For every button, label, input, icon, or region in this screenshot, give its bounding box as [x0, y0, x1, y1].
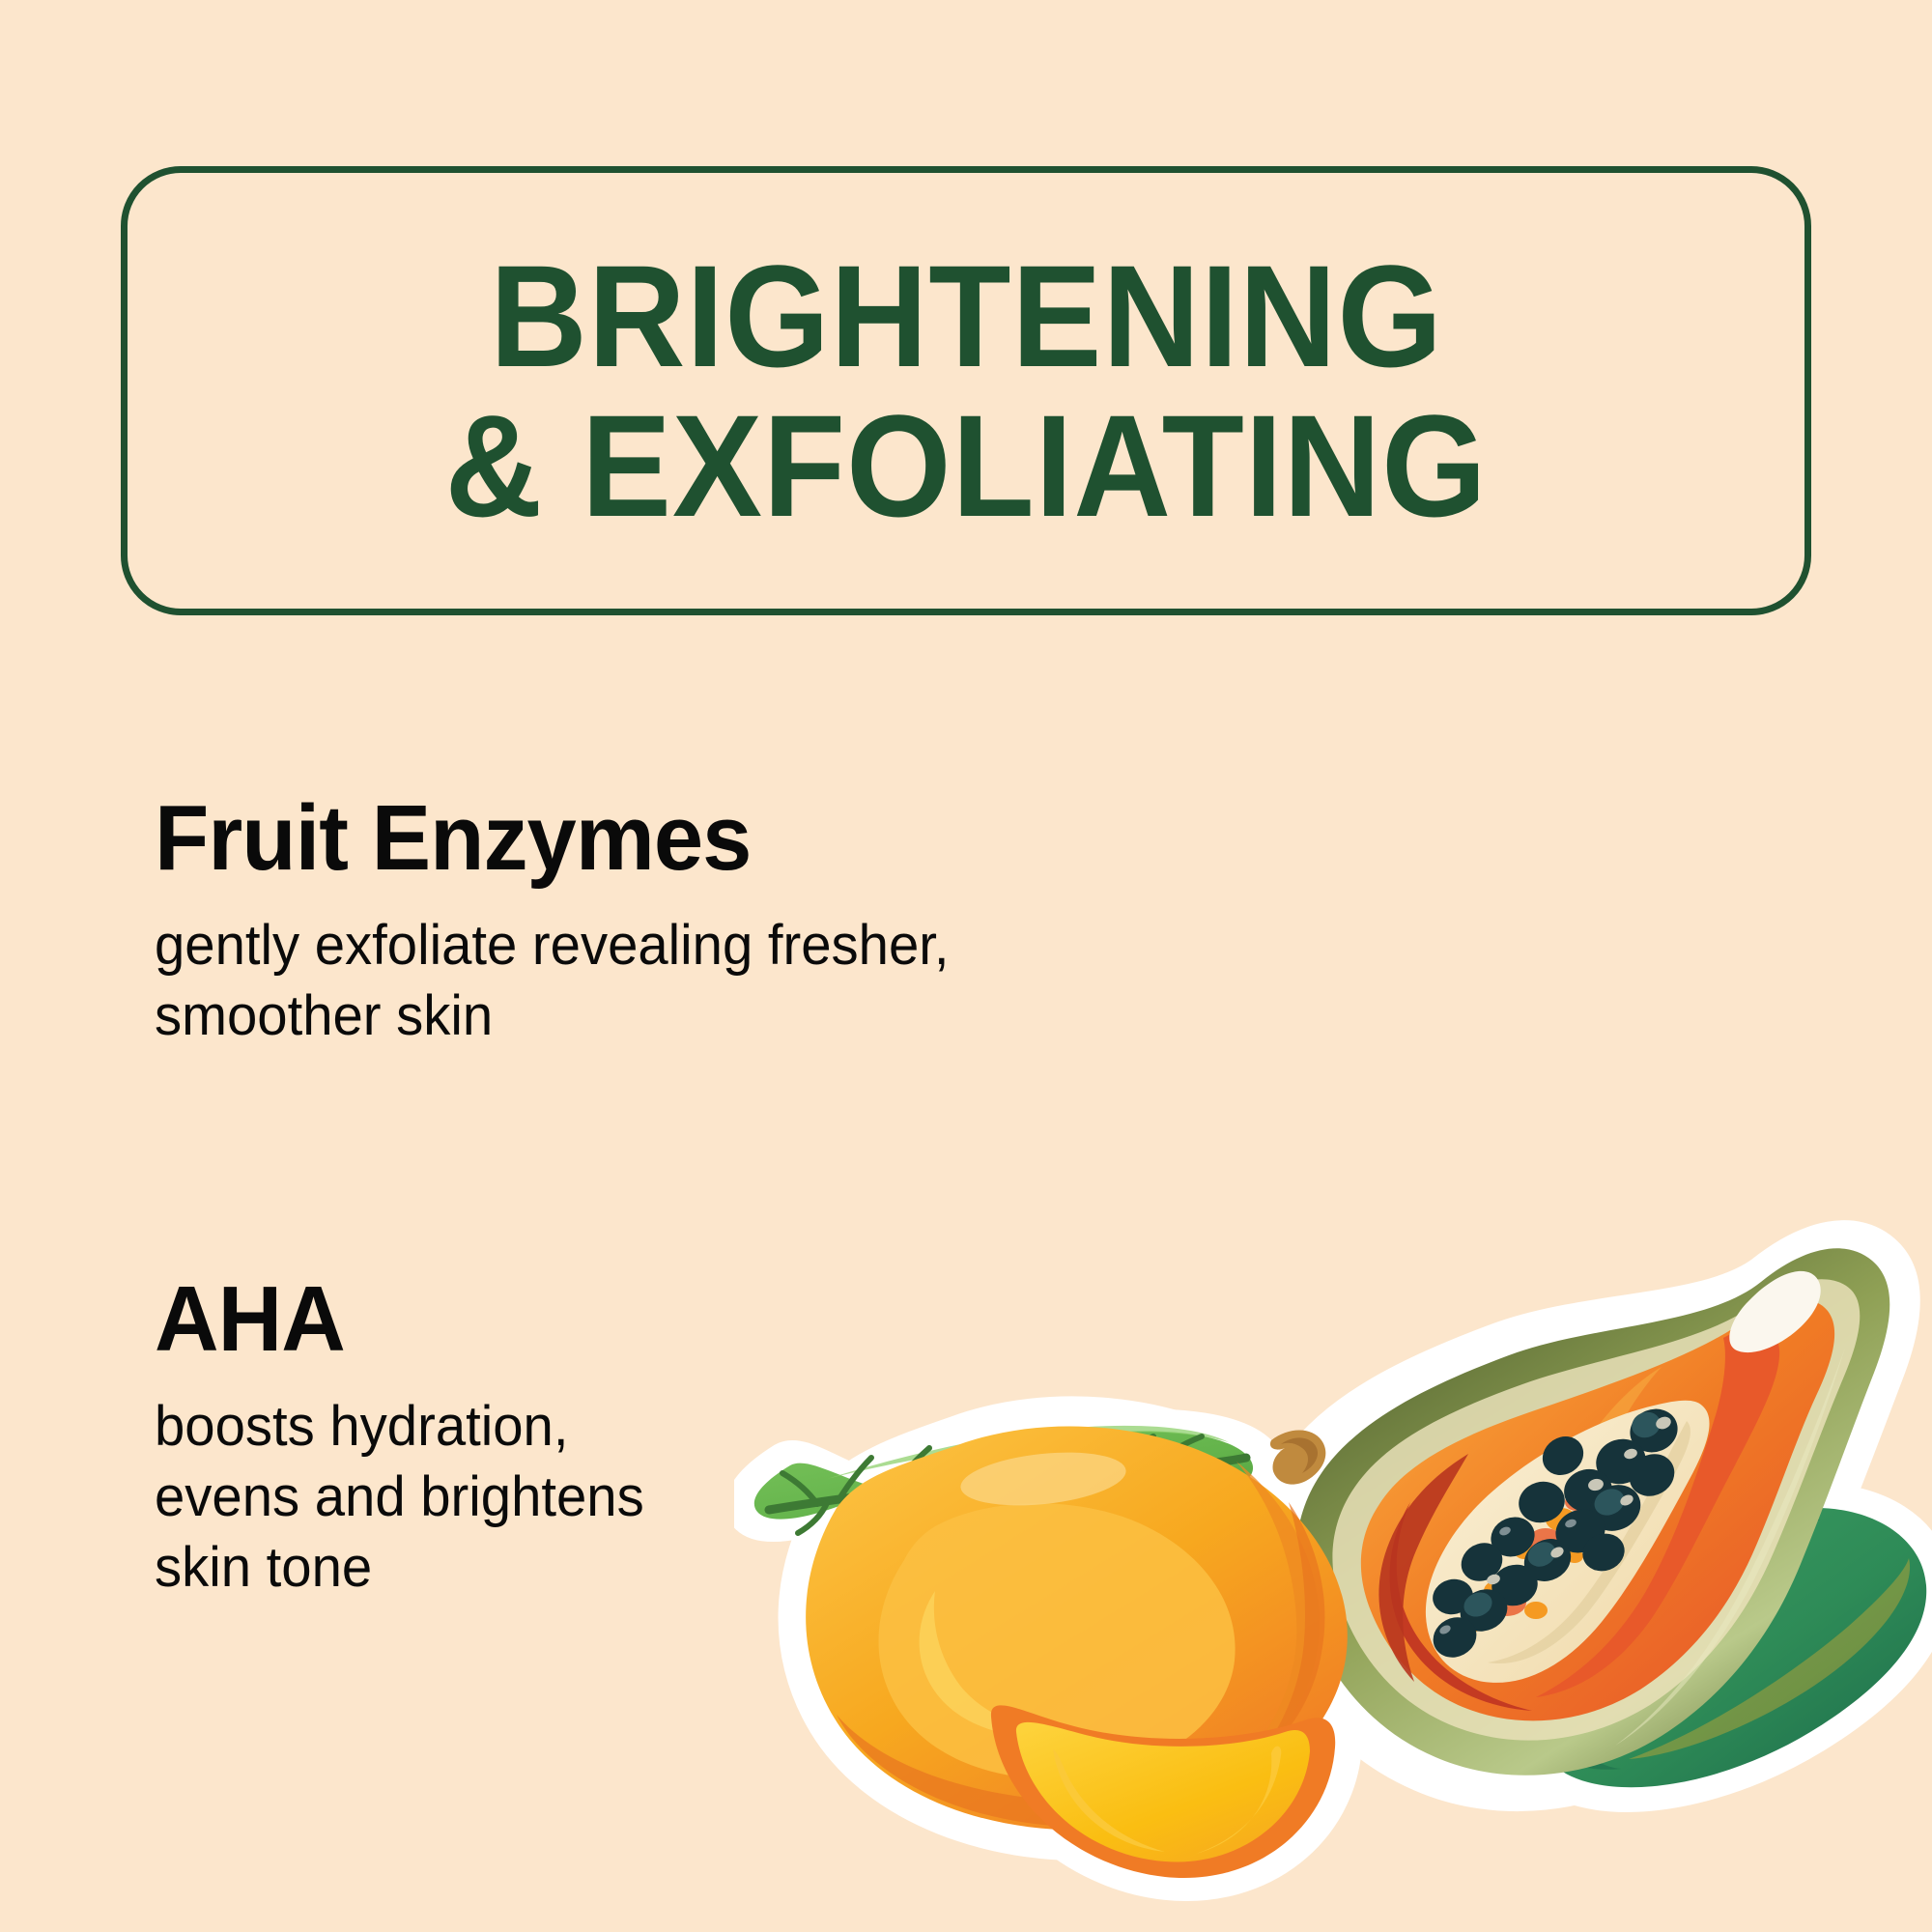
- feature-description-line-3: skin tone: [155, 1536, 372, 1599]
- feature-description-line-2: evens and brightens: [155, 1465, 644, 1528]
- mango-papaya-svg: [734, 1212, 1932, 1932]
- feature-fruit-enzymes: Fruit Enzymes gently exfoliate revealing…: [155, 792, 1236, 1051]
- headline-line-1: BRIGHTENING: [490, 241, 1443, 391]
- poster-canvas: BRIGHTENING & EXFOLIATING Fruit Enzymes …: [0, 0, 1932, 1932]
- feature-aha: AHA boosts hydration, evens and brighten…: [155, 1273, 811, 1603]
- feature-description-line-1: gently exfoliate revealing fresher,: [155, 914, 950, 977]
- fruit-illustration: [734, 1212, 1932, 1932]
- headline-line-2: & EXFOLIATING: [444, 391, 1487, 541]
- feature-title: Fruit Enzymes: [155, 792, 1193, 885]
- feature-description: gently exfoliate revealing fresher, smoo…: [155, 910, 1204, 1051]
- feature-description-line-1: boosts hydration,: [155, 1395, 568, 1458]
- feature-description: boosts hydration, evens and brightens sk…: [155, 1391, 792, 1603]
- feature-title: AHA: [155, 1273, 785, 1366]
- headline-badge: BRIGHTENING & EXFOLIATING: [121, 166, 1811, 615]
- feature-description-line-2: smoother skin: [155, 984, 493, 1047]
